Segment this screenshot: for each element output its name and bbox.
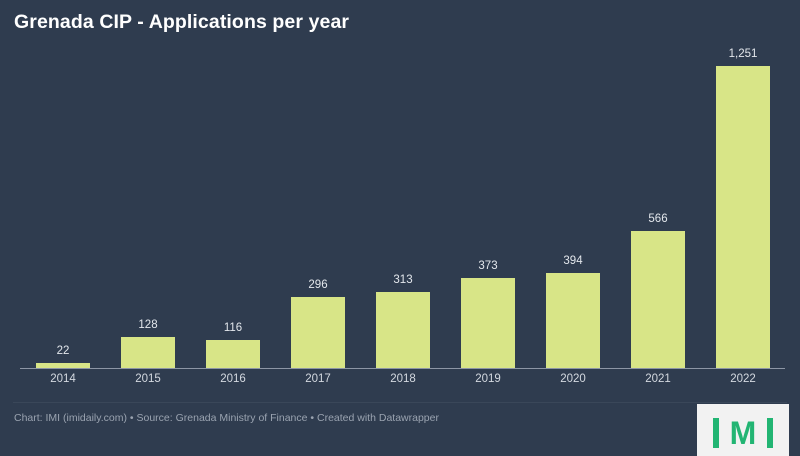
bar-group[interactable]: 373 — [461, 258, 515, 368]
x-tick-label: 2019 — [461, 373, 515, 385]
logo-letter-i-left — [713, 418, 719, 448]
x-tick-label: 2018 — [376, 373, 430, 385]
bar-value-label: 1,251 — [729, 49, 758, 61]
imi-logo-letters: M — [697, 410, 789, 456]
footer-attribution: Chart: IMI (imidaily.com) • Source: Gren… — [14, 412, 439, 424]
bar[interactable] — [121, 337, 175, 368]
logo-letter-m: M — [730, 418, 757, 448]
footer-divider — [13, 402, 787, 403]
x-tick-label: 2017 — [291, 373, 345, 385]
bar-value-label: 128 — [138, 320, 157, 332]
bar-group[interactable]: 296 — [291, 277, 345, 368]
x-tick-label: 2015 — [121, 373, 175, 385]
bar-value-label: 313 — [393, 275, 412, 287]
bar-group[interactable]: 394 — [546, 253, 600, 368]
bar[interactable] — [631, 231, 685, 368]
bar-value-label: 116 — [224, 323, 242, 335]
x-tick-label: 2016 — [206, 373, 260, 385]
bar[interactable] — [291, 297, 345, 368]
bar-value-label: 296 — [308, 280, 327, 292]
logo-letter-i-right — [767, 418, 773, 448]
imi-logo: M — [697, 404, 789, 456]
bar-value-label: 22 — [57, 346, 70, 358]
bar-group[interactable]: 1,251 — [716, 46, 770, 368]
bar[interactable] — [376, 292, 430, 368]
bar-group[interactable]: 22 — [36, 343, 90, 368]
bar-group[interactable]: 566 — [631, 211, 685, 368]
bar-group[interactable]: 128 — [121, 317, 175, 368]
bar[interactable] — [461, 278, 515, 368]
plot-area: 221281162963133733945661,251 — [0, 45, 800, 369]
x-tick-label: 2021 — [631, 373, 685, 385]
bar-group[interactable]: 116 — [206, 320, 260, 368]
chart-title: Grenada CIP - Applications per year — [14, 11, 349, 34]
bar-group[interactable]: 313 — [376, 272, 430, 368]
bar-value-label: 566 — [648, 214, 667, 226]
x-axis-tick-labels: 201420152016201720182019202020212022 — [0, 369, 800, 391]
bar[interactable] — [206, 340, 260, 368]
x-tick-label: 2020 — [546, 373, 600, 385]
bars-layer: 221281162963133733945661,251 — [0, 45, 800, 368]
bar-value-label: 394 — [563, 256, 582, 268]
x-tick-label: 2022 — [716, 373, 770, 385]
bar[interactable] — [716, 66, 770, 368]
x-tick-label: 2014 — [36, 373, 90, 385]
bar-value-label: 373 — [478, 261, 497, 273]
bar[interactable] — [546, 273, 600, 368]
chart-container: Grenada CIP - Applications per year 2212… — [0, 0, 800, 445]
logo-notch — [775, 404, 781, 409]
